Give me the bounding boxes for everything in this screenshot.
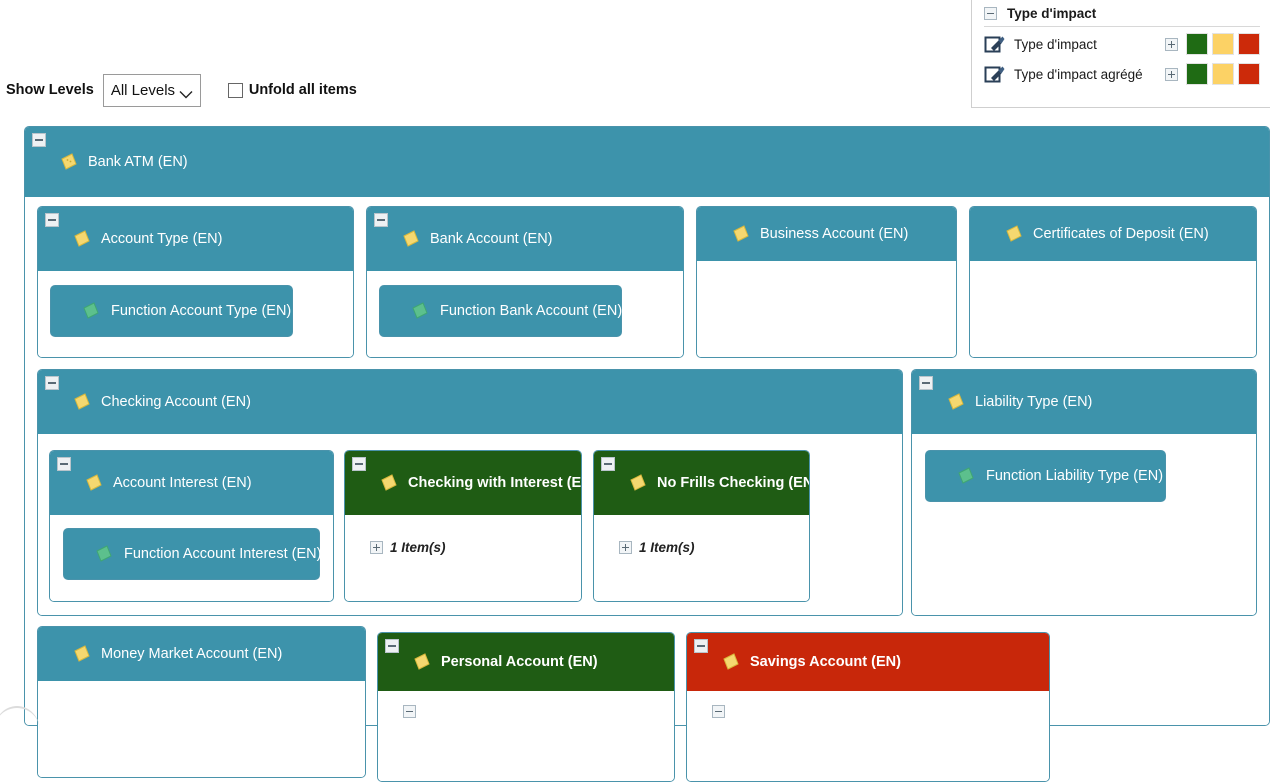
class-diamond-icon bbox=[412, 652, 432, 672]
node-label: Checking with Interest (EN) bbox=[408, 475, 582, 491]
node-collapse-toggle[interactable] bbox=[385, 639, 399, 653]
node-collapse-toggle[interactable] bbox=[919, 376, 933, 390]
treemap-node-certificates-of-deposit[interactable]: Certificates of Deposit (EN) bbox=[969, 206, 1257, 358]
node-label: Bank Account (EN) bbox=[430, 231, 553, 247]
node-collapse-toggle[interactable] bbox=[601, 457, 615, 471]
treemap-node-checking-with-interest[interactable]: Checking with Interest (EN) 1 Item(s) bbox=[344, 450, 582, 602]
leaf-label: Function Bank Account (EN) bbox=[440, 303, 622, 319]
node-body: Function Account Interest (EN) bbox=[50, 515, 333, 602]
treemap-leaf-function-liability-type[interactable]: Function Liability Type (EN) bbox=[925, 450, 1166, 502]
leaf-label: Function Liability Type (EN) bbox=[986, 468, 1163, 484]
node-title: Certificates of Deposit (EN) bbox=[970, 224, 1256, 244]
node-header[interactable]: Personal Account (EN) bbox=[378, 633, 674, 691]
item-expand-toggle[interactable] bbox=[619, 541, 632, 554]
node-title: Checking Account (EN) bbox=[38, 392, 902, 412]
node-label: No Frills Checking (EN) bbox=[657, 475, 810, 491]
node-body: 1 Item(s) bbox=[345, 515, 581, 602]
class-diamond-icon bbox=[72, 392, 92, 412]
node-title: Liability Type (EN) bbox=[912, 392, 1256, 412]
class-diamond-icon bbox=[721, 652, 741, 672]
node-header[interactable]: Bank ATM (EN) bbox=[25, 127, 1269, 197]
node-body: Function Account Type (EN) bbox=[38, 271, 353, 358]
treemap-node-money-market-account[interactable]: Money Market Account (EN) bbox=[37, 626, 366, 778]
node-collapse-toggle[interactable] bbox=[45, 213, 59, 227]
treemap-node-business-account[interactable]: Business Account (EN) bbox=[696, 206, 957, 358]
node-header[interactable]: Money Market Account (EN) bbox=[38, 627, 365, 681]
node-body bbox=[687, 691, 1049, 782]
node-title: No Frills Checking (EN) bbox=[594, 473, 809, 493]
treemap-leaf-function-account-interest[interactable]: Function Account Interest (EN) bbox=[63, 528, 320, 580]
function-diamond-icon bbox=[81, 301, 101, 321]
node-title: Business Account (EN) bbox=[697, 224, 956, 244]
treemap-canvas: Bank ATM (EN) Account Type (EN) Function… bbox=[0, 0, 1270, 721]
node-label: Savings Account (EN) bbox=[750, 654, 901, 670]
treemap-node-account-type[interactable]: Account Type (EN) Function Account Type … bbox=[37, 206, 354, 358]
item-count-label: 1 Item(s) bbox=[639, 540, 695, 555]
item-count-row[interactable] bbox=[712, 705, 725, 718]
class-diamond-icon bbox=[72, 644, 92, 664]
treemap-node-account-interest[interactable]: Account Interest (EN) Function Account I… bbox=[49, 450, 334, 602]
node-body: 1 Item(s) bbox=[594, 515, 809, 602]
node-header[interactable]: Checking Account (EN) bbox=[38, 370, 902, 434]
node-header[interactable]: Account Type (EN) bbox=[38, 207, 353, 271]
node-label: Certificates of Deposit (EN) bbox=[1033, 226, 1209, 242]
node-collapse-toggle[interactable] bbox=[374, 213, 388, 227]
class-diamond-icon bbox=[379, 473, 399, 493]
node-body bbox=[378, 691, 674, 782]
leaf-label: Function Account Interest (EN) bbox=[124, 546, 321, 562]
treemap-node-no-frills-checking[interactable]: No Frills Checking (EN) 1 Item(s) bbox=[593, 450, 810, 602]
node-label: Money Market Account (EN) bbox=[101, 646, 282, 662]
function-diamond-icon bbox=[956, 466, 976, 486]
node-title: Savings Account (EN) bbox=[687, 652, 1049, 672]
node-label: Checking Account (EN) bbox=[101, 394, 251, 410]
node-header[interactable]: Business Account (EN) bbox=[697, 207, 956, 261]
node-collapse-toggle[interactable] bbox=[57, 457, 71, 471]
node-body bbox=[697, 261, 956, 358]
node-header[interactable]: Certificates of Deposit (EN) bbox=[970, 207, 1256, 261]
nested-node-toggle[interactable] bbox=[403, 705, 416, 718]
treemap-node-personal-account[interactable]: Personal Account (EN) bbox=[377, 632, 675, 782]
class-diamond-icon bbox=[59, 152, 79, 172]
node-body: Function Liability Type (EN) bbox=[912, 434, 1256, 616]
function-diamond-icon bbox=[410, 301, 430, 321]
nested-node-toggle[interactable] bbox=[712, 705, 725, 718]
class-diamond-icon bbox=[946, 392, 966, 412]
class-diamond-icon bbox=[628, 473, 648, 493]
node-title: Account Type (EN) bbox=[38, 229, 353, 249]
class-diamond-icon bbox=[1004, 224, 1024, 244]
item-count-row[interactable]: 1 Item(s) bbox=[370, 540, 446, 555]
class-diamond-icon bbox=[84, 473, 104, 493]
node-header[interactable]: No Frills Checking (EN) bbox=[594, 451, 809, 515]
node-collapse-toggle[interactable] bbox=[352, 457, 366, 471]
node-header[interactable]: Bank Account (EN) bbox=[367, 207, 683, 271]
item-count-row[interactable]: 1 Item(s) bbox=[619, 540, 695, 555]
item-count-row[interactable] bbox=[403, 705, 416, 718]
treemap-node-liability-type[interactable]: Liability Type (EN) Function Liability T… bbox=[911, 369, 1257, 616]
node-collapse-toggle[interactable] bbox=[694, 639, 708, 653]
node-title: Account Interest (EN) bbox=[50, 473, 333, 493]
treemap-leaf-function-account-type[interactable]: Function Account Type (EN) bbox=[50, 285, 293, 337]
node-title: Money Market Account (EN) bbox=[38, 644, 365, 664]
treemap-node-bank-account[interactable]: Bank Account (EN) Function Bank Account … bbox=[366, 206, 684, 358]
node-header[interactable]: Liability Type (EN) bbox=[912, 370, 1256, 434]
class-diamond-icon bbox=[401, 229, 421, 249]
node-label: Account Type (EN) bbox=[101, 231, 222, 247]
node-body bbox=[970, 261, 1256, 358]
node-label: Bank ATM (EN) bbox=[88, 154, 188, 170]
node-body: Function Bank Account (EN) bbox=[367, 271, 683, 358]
node-collapse-toggle[interactable] bbox=[45, 376, 59, 390]
class-diamond-icon bbox=[72, 229, 92, 249]
leaf-label: Function Account Type (EN) bbox=[111, 303, 291, 319]
treemap-node-savings-account[interactable]: Savings Account (EN) bbox=[686, 632, 1050, 782]
node-label: Account Interest (EN) bbox=[113, 475, 252, 491]
node-title: Bank Account (EN) bbox=[367, 229, 683, 249]
node-label: Personal Account (EN) bbox=[441, 654, 598, 670]
node-title: Personal Account (EN) bbox=[378, 652, 674, 672]
item-expand-toggle[interactable] bbox=[370, 541, 383, 554]
class-diamond-icon bbox=[731, 224, 751, 244]
node-title: Checking with Interest (EN) bbox=[345, 473, 581, 493]
node-header[interactable]: Account Interest (EN) bbox=[50, 451, 333, 515]
function-diamond-icon bbox=[94, 544, 114, 564]
node-title: Bank ATM (EN) bbox=[25, 152, 1269, 172]
node-header[interactable]: Savings Account (EN) bbox=[687, 633, 1049, 691]
node-collapse-toggle[interactable] bbox=[32, 133, 46, 147]
node-header[interactable]: Checking with Interest (EN) bbox=[345, 451, 581, 515]
node-label: Liability Type (EN) bbox=[975, 394, 1092, 410]
node-body bbox=[38, 681, 365, 778]
node-label: Business Account (EN) bbox=[760, 226, 908, 242]
treemap-leaf-function-bank-account[interactable]: Function Bank Account (EN) bbox=[379, 285, 622, 337]
item-count-label: 1 Item(s) bbox=[390, 540, 446, 555]
